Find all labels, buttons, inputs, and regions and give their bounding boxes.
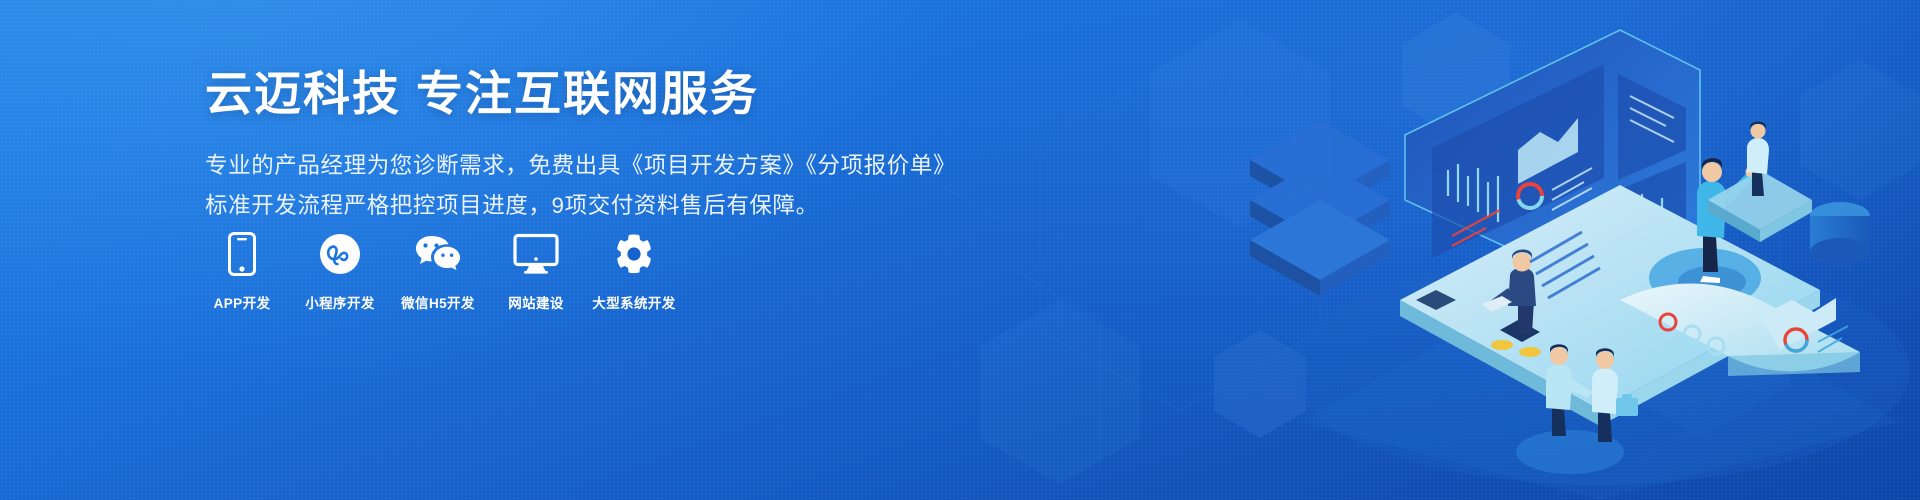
- service-label: 大型系统开发: [592, 292, 675, 312]
- subtitle-line-1: 专业的产品经理为您诊断需求，免费出具《项目开发方案》《分项报价单》: [205, 148, 965, 184]
- service-label: 微信H5开发: [401, 292, 475, 312]
- promo-banner: 云迈科技 专注互联网服务 专业的产品经理为您诊断需求，免费出具《项目开发方案》《…: [0, 0, 1920, 500]
- mobile-phone-icon: [228, 232, 256, 276]
- service-item-mini-program[interactable]: 小程序开发: [303, 232, 377, 312]
- gear-icon: [613, 232, 655, 276]
- subtitle-line-2: 标准开发流程严格把控项目进度，9项交付资料售后有保障。: [205, 188, 965, 224]
- service-label: 网站建设: [508, 292, 564, 312]
- mini-program-icon: [319, 232, 361, 276]
- monitor-icon: [513, 232, 559, 276]
- service-list: APP开发 小程序开发: [205, 232, 671, 312]
- wechat-icon: [414, 232, 462, 276]
- service-item-large-system[interactable]: 大型系统开发: [597, 232, 671, 312]
- server-stack: [1250, 120, 1390, 296]
- service-item-wechat-h5[interactable]: 微信H5开发: [401, 232, 475, 312]
- banner-copy: 云迈科技 专注互联网服务 专业的产品经理为您诊断需求，免费出具《项目开发方案》《…: [205, 66, 965, 224]
- service-item-app[interactable]: APP开发: [205, 232, 279, 312]
- service-item-website[interactable]: 网站建设: [499, 232, 573, 312]
- service-label: APP开发: [214, 292, 271, 312]
- service-label: 小程序开发: [305, 292, 375, 312]
- cylinder-accent: [1810, 202, 1870, 266]
- isometric-tech-dashboard-illustration: [1200, 0, 1920, 500]
- page-title: 云迈科技 专注互联网服务: [205, 66, 965, 122]
